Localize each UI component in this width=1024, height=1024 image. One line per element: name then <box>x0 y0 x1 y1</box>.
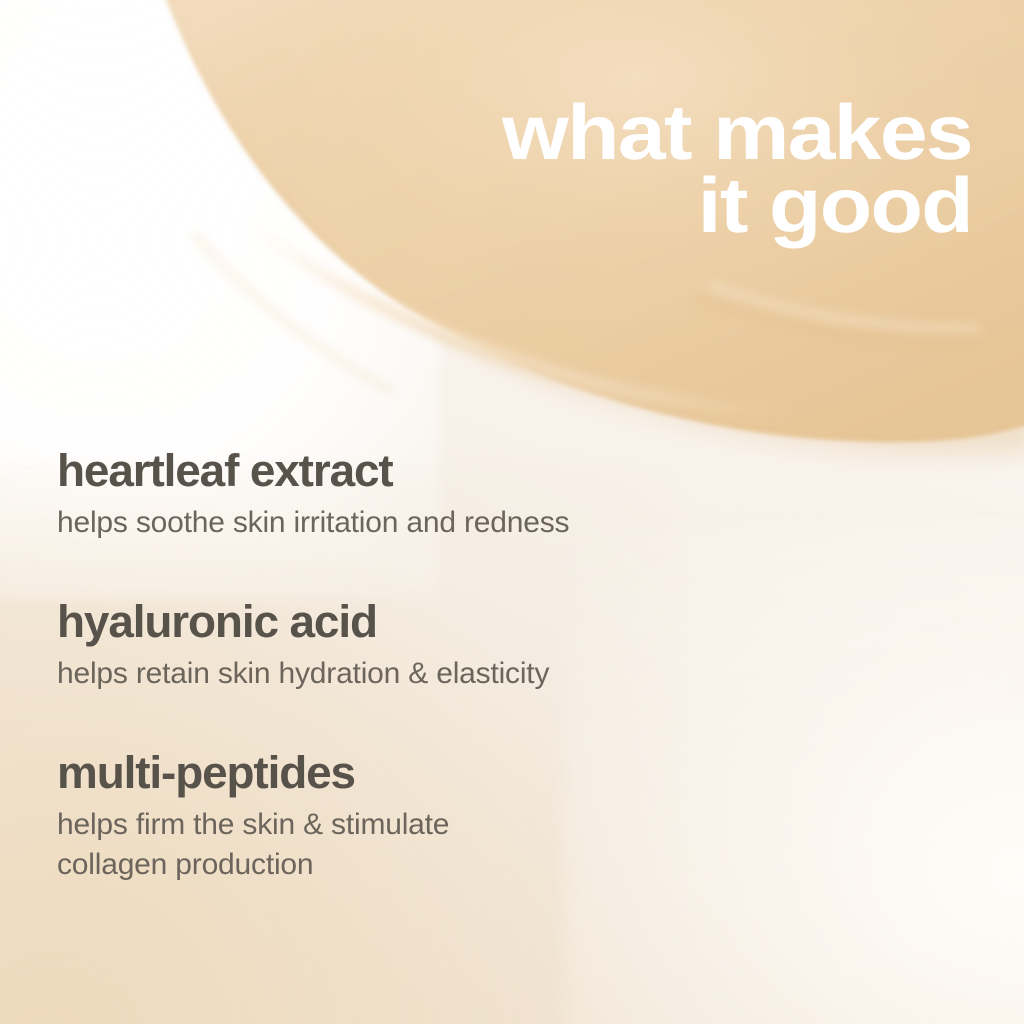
cream-swatch-shape <box>0 0 1024 520</box>
list-item: heartleaf extract helps soothe skin irri… <box>57 448 877 543</box>
ingredient-title: heartleaf extract <box>57 448 893 493</box>
headline-line-2: it good <box>233 169 972 242</box>
headline-line-1: what makes <box>233 96 972 169</box>
cream-swatch-image <box>0 0 1024 520</box>
list-item: multi-peptides helps firm the skin & sti… <box>57 750 877 885</box>
page-title: what makes it good <box>233 96 972 241</box>
ingredient-description: helps retain skin hydration & elasticity <box>57 654 677 694</box>
ingredient-description-line: helps firm the skin & stimulate <box>57 805 677 845</box>
ingredient-title: hyaluronic acid <box>57 599 893 644</box>
list-item: hyaluronic acid helps retain skin hydrat… <box>57 599 877 694</box>
ingredient-title: multi-peptides <box>57 750 893 795</box>
ingredient-description: helps firm the skin & stimulate collagen… <box>57 805 677 885</box>
product-ingredient-poster: what makes it good heartleaf extract hel… <box>0 0 1024 1024</box>
ingredient-description-line: collagen production <box>57 845 677 885</box>
ingredient-description-line: helps soothe skin irritation and redness <box>57 503 677 543</box>
ingredient-description-line: helps retain skin hydration & elasticity <box>57 654 677 694</box>
ingredient-description: helps soothe skin irritation and redness <box>57 503 677 543</box>
ingredient-list: heartleaf extract helps soothe skin irri… <box>57 448 877 885</box>
